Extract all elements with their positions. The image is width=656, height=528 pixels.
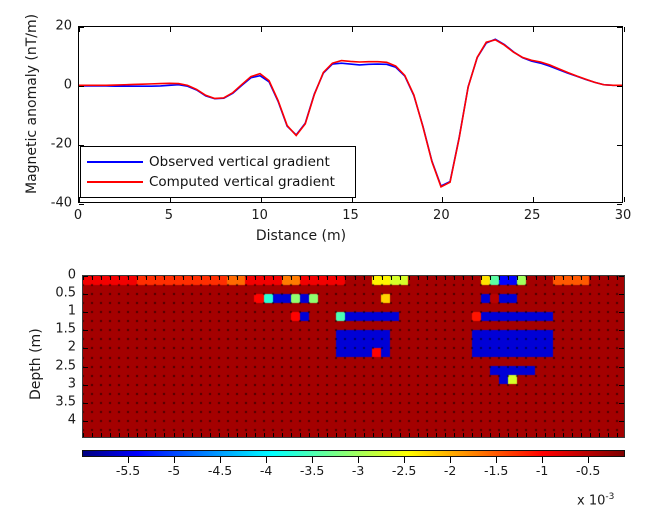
section-edge-tickmark [282, 276, 283, 280]
section-edge-tickmark [463, 433, 464, 437]
section-edge-tickmark [291, 433, 292, 437]
depth-tick-label: 1.5 [42, 323, 76, 336]
depth-tick-label: 3.5 [42, 395, 76, 408]
section-edge-tickmark [572, 433, 573, 437]
section-edge-tickmark [382, 276, 383, 280]
colorbar-tick-label: -2.5 [392, 463, 416, 478]
section-edge-tickmark [508, 433, 509, 437]
susceptibility-heatmap [83, 276, 625, 438]
colorbar-tick-label: -1.5 [484, 463, 508, 478]
section-edge-tickmark [137, 433, 138, 437]
y-tickmark [617, 204, 622, 205]
section-edge-tickmark [418, 276, 419, 280]
depth-tickmark [619, 276, 624, 277]
y-tick-label: -20 [40, 138, 72, 151]
depth-tickmark [83, 330, 88, 331]
section-edge-tickmark [364, 276, 365, 280]
section-edge-tickmark [345, 433, 346, 437]
section-edge-tickmark [155, 276, 156, 280]
section-edge-tickmark [146, 276, 147, 280]
section-edge-tickmark [536, 276, 537, 280]
section-edge-tickmark [373, 276, 374, 280]
section-edge-tickmark [608, 276, 609, 280]
section-edge-tickmark [83, 276, 84, 280]
depth-tickmark [83, 385, 88, 386]
section-edge-tickmark [264, 433, 265, 437]
section-edge-tickmark [617, 433, 618, 437]
section-edge-tickmark [192, 433, 193, 437]
section-edge-tickmark [418, 433, 419, 437]
section-edge-tickmark [409, 276, 410, 280]
section-edge-tickmark [445, 276, 446, 280]
legend-label-computed: Computed vertical gradient [149, 175, 335, 189]
depth-tickmark [619, 385, 624, 386]
section-edge-tickmark [526, 433, 527, 437]
section-edge-tickmark [101, 433, 102, 437]
section-edge-tickmark [255, 433, 256, 437]
section-edge-tickmark [545, 433, 546, 437]
legend-swatch-observed [87, 161, 143, 164]
section-edge-tickmark [526, 276, 527, 280]
section-edge-tickmark [128, 276, 129, 280]
legend-swatch-computed [87, 181, 143, 184]
depth-tickmark [83, 403, 88, 404]
section-edge-tickmark [318, 276, 319, 280]
section-edge-tickmark [355, 433, 356, 437]
section-edge-tickmark [608, 433, 609, 437]
section-edge-tickmark [373, 433, 374, 437]
section-edge-tickmark [581, 276, 582, 280]
colorbar-exponent-prefix: x 10 [577, 493, 605, 508]
section-edge-tickmark [427, 433, 428, 437]
section-edge-tickmark [92, 276, 93, 280]
y-tick-label: 20 [40, 20, 72, 33]
x-tickmark [533, 197, 534, 202]
section-edge-tickmark [119, 276, 120, 280]
depth-tickmark [619, 330, 624, 331]
section-edge-tickmark [454, 433, 455, 437]
colorbar [82, 450, 625, 457]
y-tickmark [79, 27, 84, 28]
section-edge-tickmark [436, 433, 437, 437]
section-edge-tickmark [228, 276, 229, 280]
depth-tickmark [619, 403, 624, 404]
section-edge-tickmark [355, 276, 356, 280]
section-edge-tickmark [545, 276, 546, 280]
section-edge-tickmark [128, 433, 129, 437]
section-edge-tickmark [382, 433, 383, 437]
colorbar-exponent-power: -3 [605, 492, 614, 502]
section-edge-tickmark [536, 433, 537, 437]
section-edge-tickmark [490, 276, 491, 280]
section-edge-tickmark [472, 276, 473, 280]
section-edge-tickmark [92, 433, 93, 437]
section-edge-tickmark [517, 433, 518, 437]
depth-tickmark [619, 294, 624, 295]
x-tick-label: 5 [165, 209, 173, 222]
depth-tickmark [619, 348, 624, 349]
section-edge-tickmark [228, 433, 229, 437]
section-edge-tickmark [445, 433, 446, 437]
section-edge-tickmark [255, 276, 256, 280]
depth-tickmark [83, 348, 88, 349]
section-edge-tickmark [174, 276, 175, 280]
depth-tick-label: 1 [42, 305, 76, 318]
section-edge-tickmark [174, 433, 175, 437]
y-tickmark [617, 27, 622, 28]
section-edge-tickmark [472, 433, 473, 437]
x-tickmark [624, 27, 625, 32]
legend-label-observed: Observed vertical gradient [149, 155, 330, 169]
x-tick-label: 10 [251, 209, 268, 222]
distance-axis-label: Distance (m) [256, 228, 346, 244]
section-edge-tickmark [192, 276, 193, 280]
section-edge-tickmark [499, 433, 500, 437]
depth-tickmark [83, 421, 88, 422]
y-tickmark [79, 204, 84, 205]
colorbar-tick-label: -3 [352, 463, 364, 478]
section-edge-tickmark [336, 276, 337, 280]
section-edge-tickmark [563, 276, 564, 280]
section-edge-tickmark [146, 433, 147, 437]
colorbar-tick-label: -3.5 [300, 463, 324, 478]
section-edge-tickmark [590, 276, 591, 280]
colorbar-tick-label: -5 [168, 463, 180, 478]
section-edge-tickmark [436, 276, 437, 280]
section-edge-tickmark [336, 433, 337, 437]
legend-item-observed: Observed vertical gradient [87, 152, 349, 172]
section-edge-tickmark [264, 276, 265, 280]
section-edge-tickmark [155, 433, 156, 437]
depth-tickmark [83, 312, 88, 313]
colorbar-exponent: x 10-3 [577, 492, 614, 508]
section-edge-tickmark [110, 433, 111, 437]
section-edge-tickmark [563, 433, 564, 437]
x-tick-label: 30 [615, 209, 632, 222]
x-tick-label: 20 [433, 209, 450, 222]
section-edge-tickmark [300, 433, 301, 437]
x-tickmark [442, 197, 443, 202]
depth-tickmark [83, 294, 88, 295]
section-edge-tickmark [219, 276, 220, 280]
section-edge-tickmark [183, 276, 184, 280]
section-edge-tickmark [508, 276, 509, 280]
section-edge-tickmark [327, 433, 328, 437]
section-edge-tickmark [454, 276, 455, 280]
section-edge-tickmark [273, 276, 274, 280]
depth-tick-label: 0.5 [42, 287, 76, 300]
section-edge-tickmark [517, 276, 518, 280]
section-edge-tickmark [581, 433, 582, 437]
colorbar-tick-label: -5.5 [116, 463, 140, 478]
colorbar-tick-label: -4.5 [208, 463, 232, 478]
depth-tick-label: 0 [42, 269, 76, 282]
section-edge-tickmark [400, 433, 401, 437]
section-edge-tickmark [463, 276, 464, 280]
x-tickmark [352, 27, 353, 32]
magnetic-anomaly-axis-label: Magnetic anomaly (nT/m) [24, 14, 40, 194]
section-edge-tickmark [119, 433, 120, 437]
colorbar-tick-label: -0.5 [576, 463, 600, 478]
depth-tick-label: 2 [42, 341, 76, 354]
section-edge-tickmark [237, 276, 238, 280]
y-tickmark [79, 86, 84, 87]
x-tickmark [170, 27, 171, 32]
section-edge-tickmark [572, 276, 573, 280]
section-edge-tickmark [201, 276, 202, 280]
x-tick-label: 0 [74, 209, 82, 222]
section-edge-tickmark [409, 433, 410, 437]
x-tick-label: 15 [342, 209, 359, 222]
section-edge-tickmark [210, 433, 211, 437]
depth-tickmark [619, 312, 624, 313]
section-edge-tickmark [210, 276, 211, 280]
y-tick-label: -40 [40, 197, 72, 210]
section-edge-tickmark [137, 276, 138, 280]
section-edge-tickmark [599, 276, 600, 280]
section-edge-tickmark [481, 433, 482, 437]
colorbar-tick-label: -2 [444, 463, 456, 478]
section-edge-tickmark [590, 433, 591, 437]
section-edge-tickmark [599, 433, 600, 437]
depth-tick-label: 4 [42, 413, 76, 426]
section-edge-tickmark [391, 276, 392, 280]
colorbar-tick-label: -1 [536, 463, 548, 478]
section-edge-tickmark [309, 276, 310, 280]
section-edge-tickmark [101, 276, 102, 280]
section-edge-tickmark [427, 276, 428, 280]
section-edge-tickmark [345, 276, 346, 280]
section-edge-tickmark [391, 433, 392, 437]
y-tickmark [617, 145, 622, 146]
section-edge-tickmark [273, 433, 274, 437]
section-edge-tickmark [499, 276, 500, 280]
section-edge-tickmark [291, 276, 292, 280]
section-edge-tickmark [282, 433, 283, 437]
depth-tickmark [83, 367, 88, 368]
legend-item-computed: Computed vertical gradient [87, 172, 349, 192]
section-edge-tickmark [83, 433, 84, 437]
colorbar-tick-label: -4 [260, 463, 272, 478]
x-tickmark [442, 27, 443, 32]
section-edge-tickmark [237, 433, 238, 437]
section-edge-tickmark [110, 276, 111, 280]
section-edge-tickmark [554, 276, 555, 280]
section-edge-tickmark [327, 276, 328, 280]
section-edge-tickmark [554, 433, 555, 437]
section-edge-tickmark [219, 433, 220, 437]
section-edge-tickmark [318, 433, 319, 437]
section-edge-tickmark [364, 433, 365, 437]
figure-root: 051015202530200-20-40 Distance (m) Magne… [0, 0, 656, 528]
section-edge-tickmark [164, 276, 165, 280]
y-tick-label: 0 [40, 79, 72, 92]
y-tickmark [617, 86, 622, 87]
section-edge-tickmark [246, 433, 247, 437]
section-edge-tickmark [617, 276, 618, 280]
depth-tickmark [619, 421, 624, 422]
x-tickmark [533, 27, 534, 32]
x-tickmark [624, 197, 625, 202]
section-edge-tickmark [183, 433, 184, 437]
legend-box: Observed vertical gradient Computed vert… [80, 146, 356, 198]
section-edge-tickmark [300, 276, 301, 280]
section-edge-tickmark [164, 433, 165, 437]
section-edge-tickmark [481, 276, 482, 280]
x-tick-label: 25 [524, 209, 541, 222]
section-edge-tickmark [246, 276, 247, 280]
depth-tick-label: 2.5 [42, 359, 76, 372]
depth-axis-label: Depth (m) [28, 328, 44, 400]
section-edge-tickmark [309, 433, 310, 437]
depth-tick-label: 3 [42, 377, 76, 390]
section-edge-tickmark [201, 433, 202, 437]
x-tickmark [261, 27, 262, 32]
depth-tickmark [619, 367, 624, 368]
section-edge-tickmark [400, 276, 401, 280]
section-edge-tickmark [490, 433, 491, 437]
depth-section-plot [82, 275, 625, 438]
